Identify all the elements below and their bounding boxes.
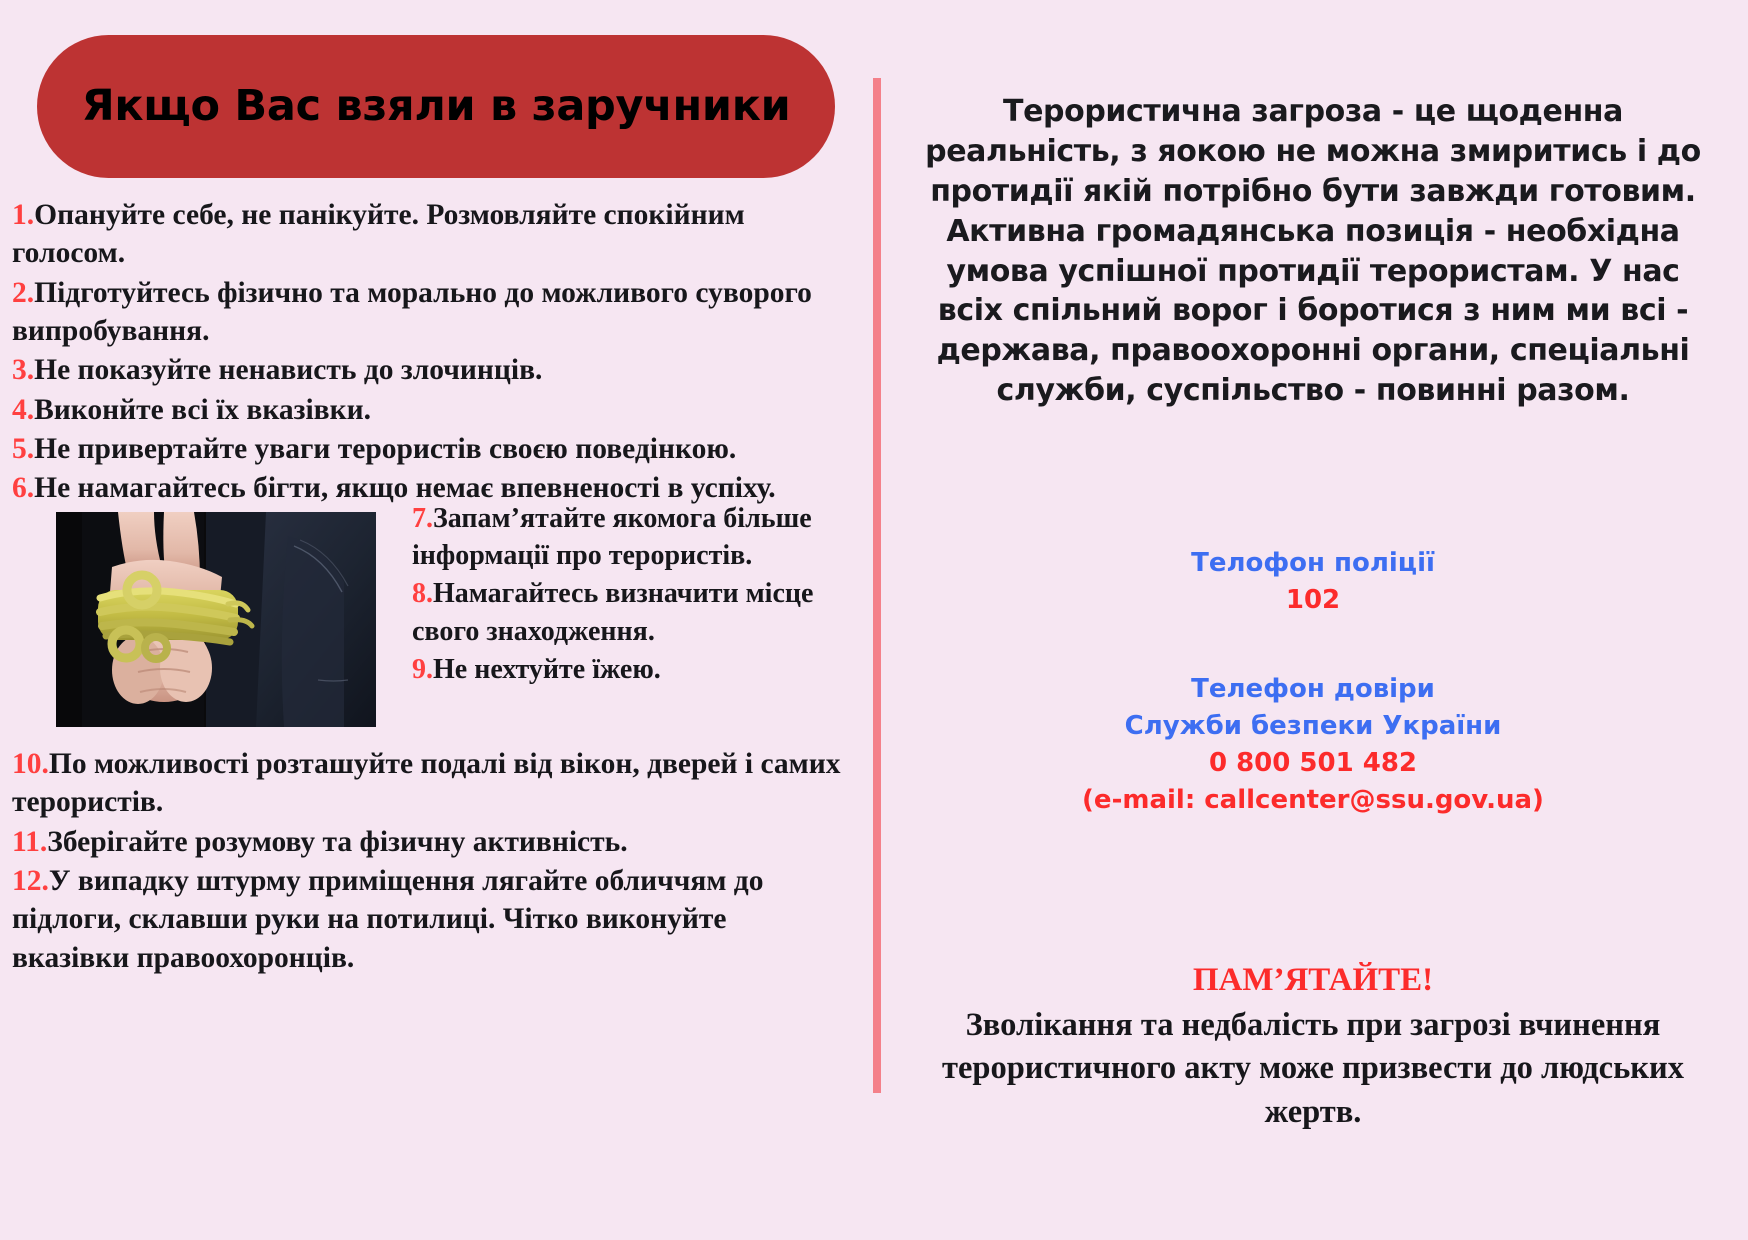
- list-item-number: 2.: [12, 277, 34, 309]
- list-item: 10.По можливості розташуйте подалі від в…: [12, 745, 842, 822]
- hotline-email[interactable]: (e-mail: callcenter@ssu.gov.ua): [918, 782, 1708, 819]
- photo-with-text-block: 7.Запам’ятайте якомога більше інформації…: [12, 500, 842, 745]
- bound-hands-photo: [56, 512, 376, 727]
- page-title: Якщо Вас взяли в заручники: [82, 79, 791, 134]
- list-item-text: У випадку штурму приміщення лягайте обли…: [12, 865, 763, 974]
- list-item: 9.Не нехтуйте їжею.: [412, 651, 842, 688]
- list-item-number: 4.: [12, 394, 34, 426]
- list-item-number: 11.: [12, 826, 47, 858]
- list-item-number: 8.: [412, 578, 433, 609]
- list-item: 3.Не показуйте ненависть до злочинців.: [12, 351, 842, 389]
- list-item: 2.Підготуйтесь фізично та морально до мо…: [12, 274, 842, 351]
- remember-heading: ПАМ’ЯТАЙТЕ!: [918, 960, 1708, 1001]
- hotline-phone-number[interactable]: 0 800 501 482: [918, 745, 1708, 782]
- poster-root: Якщо Вас взяли в заручники 1.Опануйте се…: [0, 0, 1748, 1240]
- list-item: 8.Намагайтесь визначити місце свого знах…: [412, 575, 842, 649]
- tips-list-beside-photo: 7.Запам’ятайте якомога більше інформації…: [412, 500, 842, 689]
- police-phone-number[interactable]: 102: [918, 582, 1708, 619]
- column-divider: [873, 78, 881, 1093]
- list-item: 7.Запам’ятайте якомога більше інформації…: [412, 500, 842, 574]
- tips-list-top: 1.Опануйте себе, не панікуйте. Розмовляй…: [12, 196, 842, 509]
- remember-body: Зволікання та недбалість при загрозі вчи…: [918, 1004, 1708, 1134]
- list-item: 5.Не привертайте уваги терористів своєю …: [12, 430, 842, 468]
- list-item-text: Опануйте себе, не панікуйте. Розмовляйте…: [12, 199, 745, 269]
- list-item-number: 10.: [12, 748, 49, 780]
- list-item: 1.Опануйте себе, не панікуйте. Розмовляй…: [12, 196, 842, 273]
- list-item-number: 12.: [12, 865, 49, 897]
- list-item-number: 7.: [412, 503, 433, 534]
- list-item: 4.Виконйте всі їх вказівки.: [12, 391, 842, 429]
- contacts-block: Телофон поліції 102 Телефон довіри Служб…: [918, 545, 1708, 818]
- list-item-text: Намагайтесь визначити місце свого знаход…: [412, 578, 813, 646]
- hotline-label-line2: Служби безпеки України: [918, 708, 1708, 745]
- list-item: 11.Зберігайте розумову та фізичну активн…: [12, 823, 842, 861]
- list-item-text: Підготуйтесь фізично та морально до можл…: [12, 277, 812, 347]
- list-item: 12.У випадку штурму приміщення лягайте о…: [12, 862, 842, 977]
- tips-list-bottom: 10.По можливості розташуйте подалі від в…: [12, 745, 842, 978]
- list-item-text: По можливості розташуйте подалі від віко…: [12, 748, 841, 818]
- title-banner: Якщо Вас взяли в заручники: [37, 35, 835, 178]
- list-item-text: Виконйте всі їх вказівки.: [34, 394, 371, 426]
- right-column: Терористична загроза - це щоденна реальн…: [890, 0, 1748, 1240]
- list-item-text: Не привертайте уваги терористів своєю по…: [34, 433, 736, 465]
- list-item-text: Зберігайте розумову та фізичну активніст…: [47, 826, 627, 858]
- list-item-number: 5.: [12, 433, 34, 465]
- contacts-spacer: [918, 619, 1708, 671]
- list-item-text: Запам’ятайте якомога більше інформації п…: [412, 503, 812, 571]
- list-item-text: Не показуйте ненависть до злочинців.: [34, 354, 542, 386]
- list-item-number: 1.: [12, 199, 34, 231]
- hotline-label-line1: Телефон довіри: [918, 671, 1708, 708]
- list-item-text: Не нехтуйте їжею.: [433, 654, 661, 685]
- intro-paragraph: Терористична загроза - це щоденна реальн…: [918, 92, 1708, 411]
- list-item-number: 3.: [12, 354, 34, 386]
- remember-block: ПАМ’ЯТАЙТЕ! Зволікання та недбалість при…: [918, 960, 1708, 1134]
- list-item-number: 9.: [412, 654, 433, 685]
- police-phone-label: Телофон поліції: [918, 545, 1708, 582]
- left-column: Якщо Вас взяли в заручники 1.Опануйте се…: [0, 0, 845, 1240]
